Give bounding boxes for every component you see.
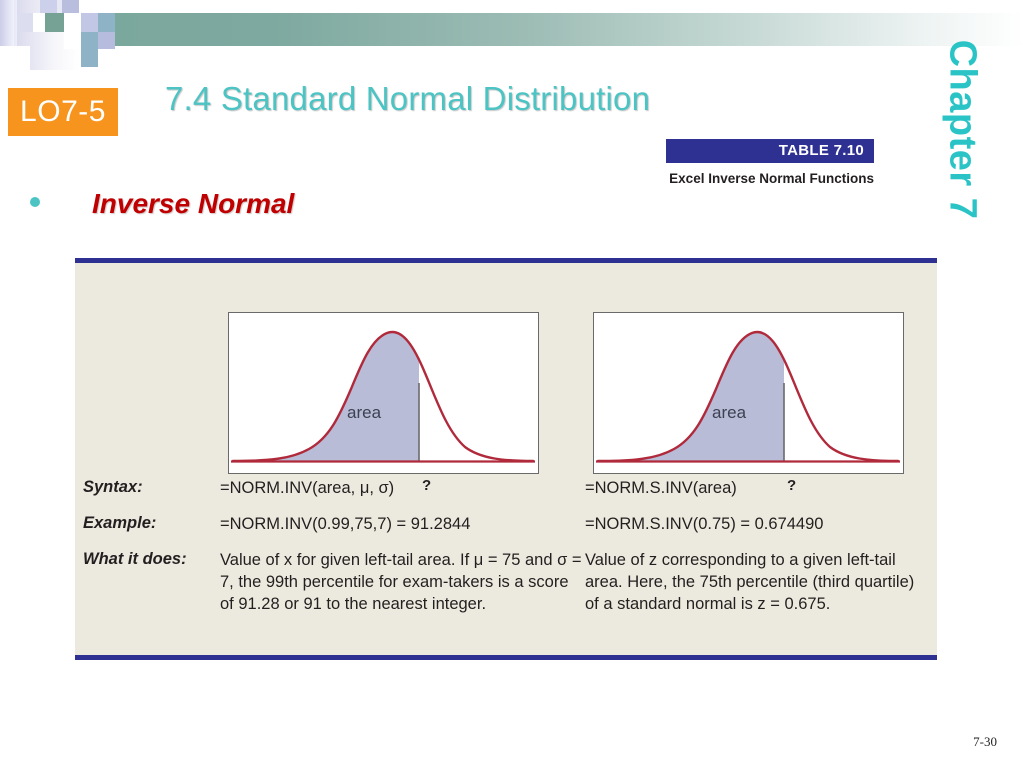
table-row: Syntax: =NORM.INV(area, μ, σ) =NORM.S.IN… [75, 478, 937, 500]
learning-objective-badge: LO7-5 [8, 88, 118, 136]
deco-square-15 [64, 32, 81, 49]
figure-row: area area ? ? [75, 285, 937, 465]
normal-curve-svg-right: area [594, 313, 902, 472]
cell-desc-norm-inv: Value of x for given left-tail area. If … [220, 550, 585, 616]
deco-square-1 [40, 0, 57, 13]
deco-square-4 [62, 0, 79, 13]
deco-square-18 [81, 49, 98, 67]
deco-square-20 [0, 46, 30, 70]
table-caption-text: Excel Inverse Normal Functions [666, 170, 874, 188]
table-body: Syntax: =NORM.INV(area, μ, σ) =NORM.S.IN… [75, 478, 937, 630]
row-label-example: Example: [75, 514, 220, 533]
area-label-left: area [347, 403, 382, 422]
row-label-syntax: Syntax: [75, 478, 220, 497]
deco-square-17 [98, 32, 115, 49]
chapter-label: Chapter 7 [941, 20, 984, 240]
deco-square-21 [0, 0, 14, 46]
deco-square-14 [81, 13, 98, 32]
table-row: What it does: Value of x for given left-… [75, 550, 937, 616]
header-gradient-bar [62, 13, 1024, 46]
deco-square-13 [64, 13, 81, 32]
row-label-what-it-does: What it does: [75, 550, 220, 569]
cell-syntax-norm-inv: =NORM.INV(area, μ, σ) [220, 478, 585, 500]
cell-desc-norm-s-inv: Value of z corresponding to a given left… [585, 550, 925, 616]
normal-curve-figure-right: area [593, 312, 904, 474]
table-row: Example: =NORM.INV(0.99,75,7) = 91.2844 … [75, 514, 937, 536]
table-caption: TABLE 7.10 Excel Inverse Normal Function… [666, 139, 874, 188]
bullet-item: Inverse Normal [30, 188, 294, 220]
deco-square-19 [98, 13, 115, 32]
page-title: 7.4 Standard Normal Distribution [165, 80, 650, 118]
bullet-label: Inverse Normal [92, 188, 294, 220]
deco-square-16 [81, 32, 98, 49]
deco-square-11 [17, 13, 33, 32]
cell-example-norm-s-inv: =NORM.S.INV(0.75) = 0.674490 [585, 514, 925, 536]
deco-square-9 [45, 13, 64, 32]
normal-curve-figure-left: area [228, 312, 539, 474]
bullet-dot-icon [30, 197, 40, 207]
deco-square-10 [33, 13, 45, 32]
area-label-right: area [712, 403, 747, 422]
table-number-badge: TABLE 7.10 [666, 139, 874, 163]
cell-syntax-norm-s-inv: =NORM.S.INV(area) [585, 478, 925, 500]
page-number: 7-30 [973, 734, 997, 750]
decorative-header [0, 0, 1024, 70]
cell-example-norm-inv: =NORM.INV(0.99,75,7) = 91.2844 [220, 514, 585, 536]
normal-curve-svg-left: area [229, 313, 537, 472]
table-panel: area area ? ? Syntax: =NORM.INV(area, μ,… [75, 258, 937, 660]
